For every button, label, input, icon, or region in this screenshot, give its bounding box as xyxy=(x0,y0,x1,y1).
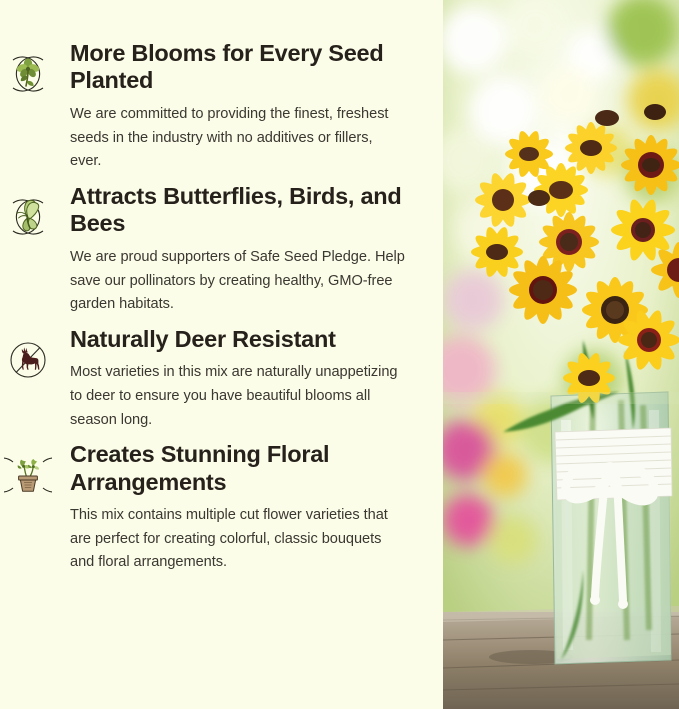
butterfly-icon xyxy=(4,193,52,241)
benefit-body: More Blooms for Every Seed Planted We ar… xyxy=(70,40,443,174)
benefit-description: We are committed to providing the finest… xyxy=(70,103,405,174)
benefit-body: Naturally Deer Resistant Most varieties … xyxy=(70,326,443,432)
benefit-body: Attracts Butterflies, Birds, and Bees We… xyxy=(70,183,443,317)
benefit-description: This mix contains multiple cut flower va… xyxy=(70,504,405,575)
benefit-description: Most varieties in this mix are naturally… xyxy=(70,361,405,432)
benefit-title: Creates Stunning Floral Arrangements xyxy=(70,441,415,496)
benefit-title: Naturally Deer Resistant xyxy=(70,326,415,353)
benefit-title: Attracts Butterflies, Birds, and Bees xyxy=(70,183,415,238)
benefit-item-deer-resistant: Naturally Deer Resistant Most varieties … xyxy=(0,326,443,432)
benefit-item-floral-arrangements: Creates Stunning Floral Arrangements Thi… xyxy=(0,441,443,575)
product-photo xyxy=(443,0,679,709)
flower-bloom-icon xyxy=(4,50,52,98)
no-deer-icon xyxy=(4,336,52,384)
benefit-description: We are proud supporters of Safe Seed Ple… xyxy=(70,246,405,317)
benefit-body: Creates Stunning Floral Arrangements Thi… xyxy=(70,441,443,575)
benefit-item-more-blooms: More Blooms for Every Seed Planted We ar… xyxy=(0,40,443,174)
benefit-item-attracts-pollinators: Attracts Butterflies, Birds, and Bees We… xyxy=(0,183,443,317)
benefits-column: More Blooms for Every Seed Planted We ar… xyxy=(0,0,443,709)
potted-plant-icon xyxy=(4,451,52,499)
photo-illustration xyxy=(443,0,679,709)
benefits-panel: More Blooms for Every Seed Planted We ar… xyxy=(0,0,679,709)
benefit-title: More Blooms for Every Seed Planted xyxy=(70,40,415,95)
